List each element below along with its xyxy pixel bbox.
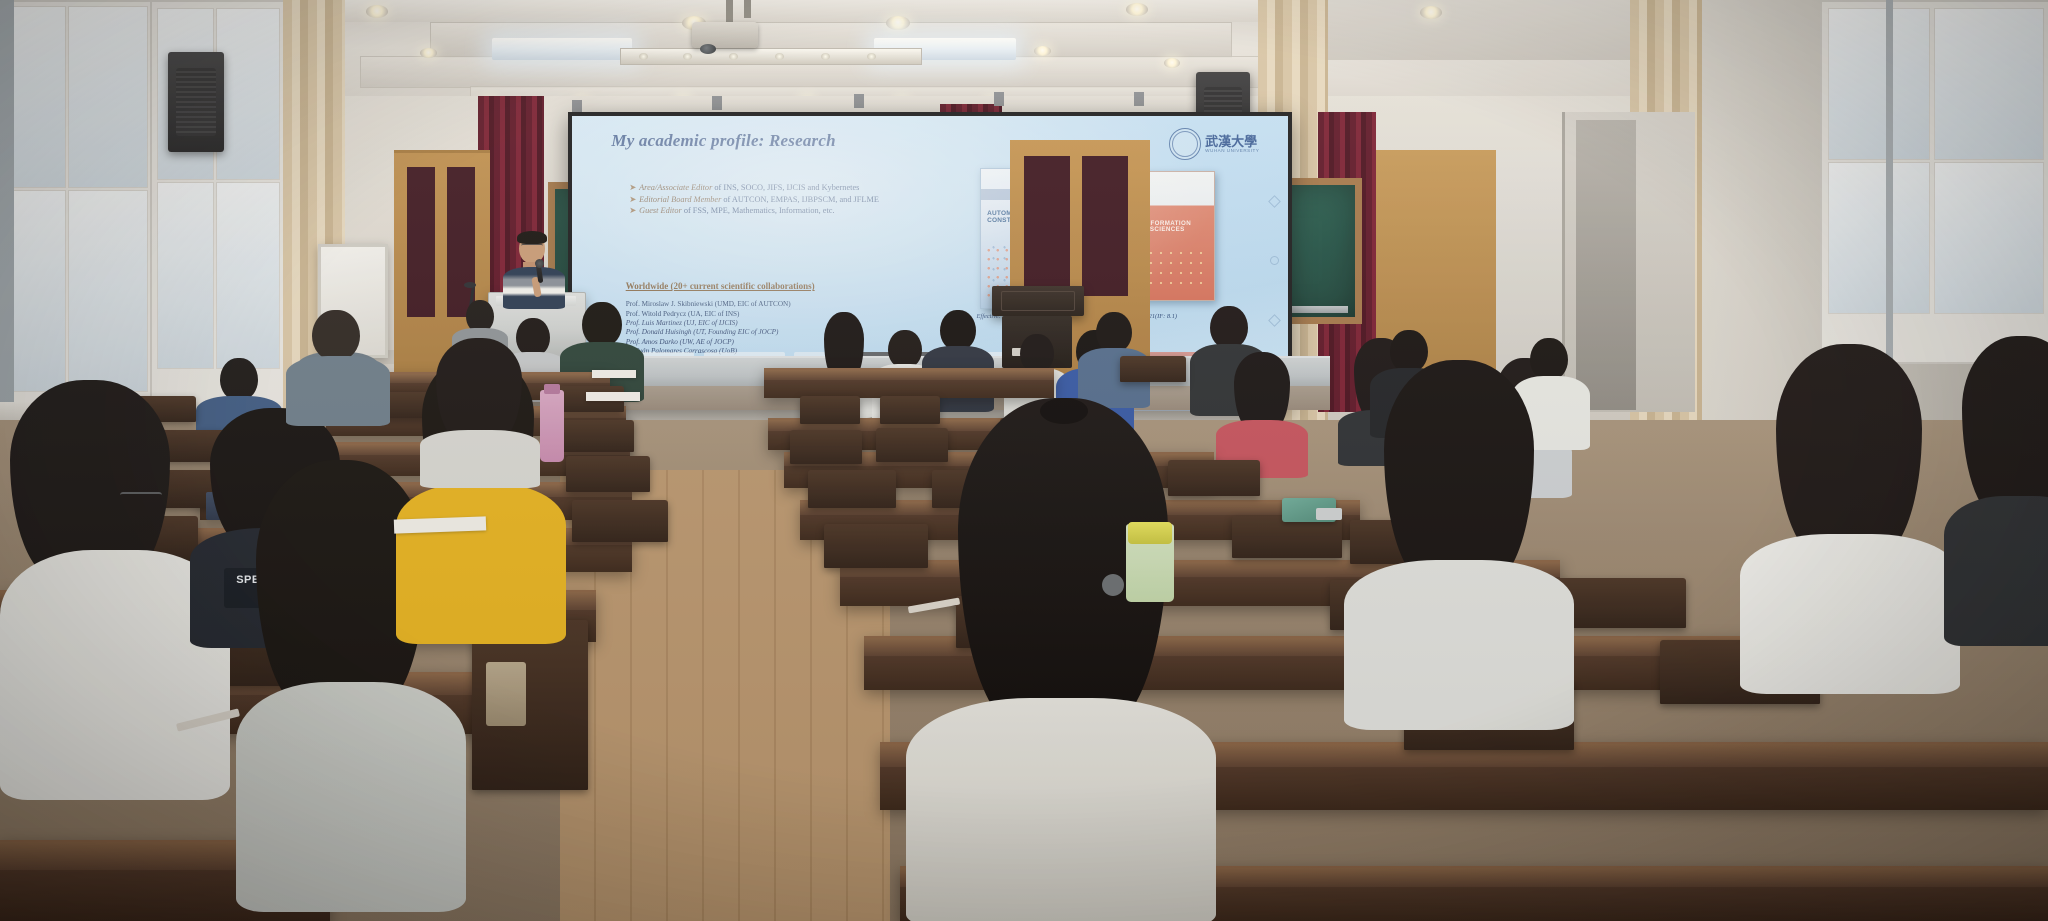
ceiling-light-fixture [492,38,632,60]
screen-bracket [854,94,864,108]
slide-bullet-list: ➤ Area/Associate Editor of INS, SOCO, JI… [629,183,973,219]
chair [566,456,650,492]
chair [560,420,634,452]
right-window [1820,0,2048,364]
notebook [586,392,640,401]
screen-bracket [1134,92,1144,106]
wuhan-university-english: WUHAN UNIVERSITY [1205,148,1259,153]
audience-member-foreground [906,398,1216,921]
ceiling-projector [692,22,758,48]
audience-member [420,338,540,478]
chair [1120,356,1186,382]
list-item: Prof. Witold Pedrycz (UA, EIC of INS) [626,310,791,319]
glasses-icon [120,492,162,500]
wuhan-university-seal-icon [1169,128,1201,160]
list-item: ➤ Area/Associate Editor of INS, SOCO, JI… [629,183,973,193]
hair-bun [1040,398,1088,424]
water-bottle-pink[interactable] [540,390,564,462]
phone-accessory [1316,508,1342,520]
screen-bracket [712,96,722,110]
downlight [366,5,388,18]
bullet-emphasis: Guest Editor [639,206,682,215]
audience-member-foreground [1344,360,1574,720]
audience-member [1216,352,1308,468]
lecture-hall-photo: My academic profile: Research 武漢大學 WUHAN… [0,0,2048,921]
list-item: ➤ Guest Editor of FSS, MPE, Mathematics,… [629,206,973,216]
projector-mount [744,0,751,18]
audience-member [286,310,390,420]
worldwide-heading: Worldwide (20+ current scientific collab… [626,281,815,291]
chair [1556,578,1686,628]
chair [808,470,896,508]
projector-mount [726,0,733,22]
window-mullion [1886,0,1893,360]
left-window [0,0,154,434]
notebook [592,370,636,378]
bullet-emphasis: Editorial Board Member [639,195,721,204]
ceiling-strip [300,0,1360,22]
bottle-cap [1128,522,1172,544]
hair-clip [1102,574,1124,596]
chair [1232,516,1342,558]
arrow-bullet-icon: ➤ [629,195,636,205]
wuhan-university-logo: 武漢大學 WUHAN UNIVERSITY [1169,128,1259,160]
ceiling-light-rail [620,48,922,65]
presenter [503,233,565,305]
bag [486,662,526,726]
list-item: ➤ Editorial Board Member of AUTCON, EMPA… [629,195,973,205]
arrow-bullet-icon: ➤ [629,183,636,193]
bullet-emphasis: Area/Associate Editor [639,183,712,192]
list-item: Prof. Miroslaw J. Skibniewski (UMD, EIC … [626,300,791,309]
slide-side-markers [1269,197,1279,325]
bullet-rest: of INS, SOCO, JIFS, IJCIS and Kybernetes [712,183,859,192]
audience-member-foreground [1740,344,1960,684]
downlight [1164,58,1180,68]
bottle-cap [544,384,560,394]
chair [572,500,668,542]
list-item: Prof. Donald Huisingh (UT, Founding EIC … [626,328,791,337]
downlight [1126,3,1148,16]
audience-member-foreground [1944,336,2048,636]
wuhan-university-chinese: 武漢大學 [1205,135,1259,148]
microphone-head-icon [535,259,544,268]
arrow-bullet-icon: ➤ [629,206,636,216]
left-wall-speaker [168,52,224,152]
glasses-icon [521,244,543,249]
presenter-hair [517,231,547,244]
av-lectern-top[interactable] [992,286,1084,316]
collaborator-list: Prof. Miroslaw J. Skibniewski (UMD, EIC … [626,300,791,356]
screen-bracket [994,92,1004,106]
bullet-rest: of FSS, MPE, Mathematics, Information, e… [682,206,835,215]
downlight [1034,46,1051,56]
bullet-rest: of AUTCON, EMPAS, IJBPSCM, and JFLME [721,195,879,204]
list-item: Prof. Luis Martinez (UJ, EIC of IJCIS) [626,319,791,328]
slide-title: My academic profile: Research [611,131,835,151]
microphone-head-icon [464,282,476,288]
list-item: Prof. Amos Darko (UW, AE of JOCP) [626,338,791,347]
chair [790,430,862,464]
projector-lens-icon [700,44,716,54]
desk-row [764,368,1054,398]
downlight [1420,6,1442,19]
window-mullion [0,0,14,430]
chair [800,396,860,424]
downlight [420,48,437,58]
downlight [886,16,910,30]
